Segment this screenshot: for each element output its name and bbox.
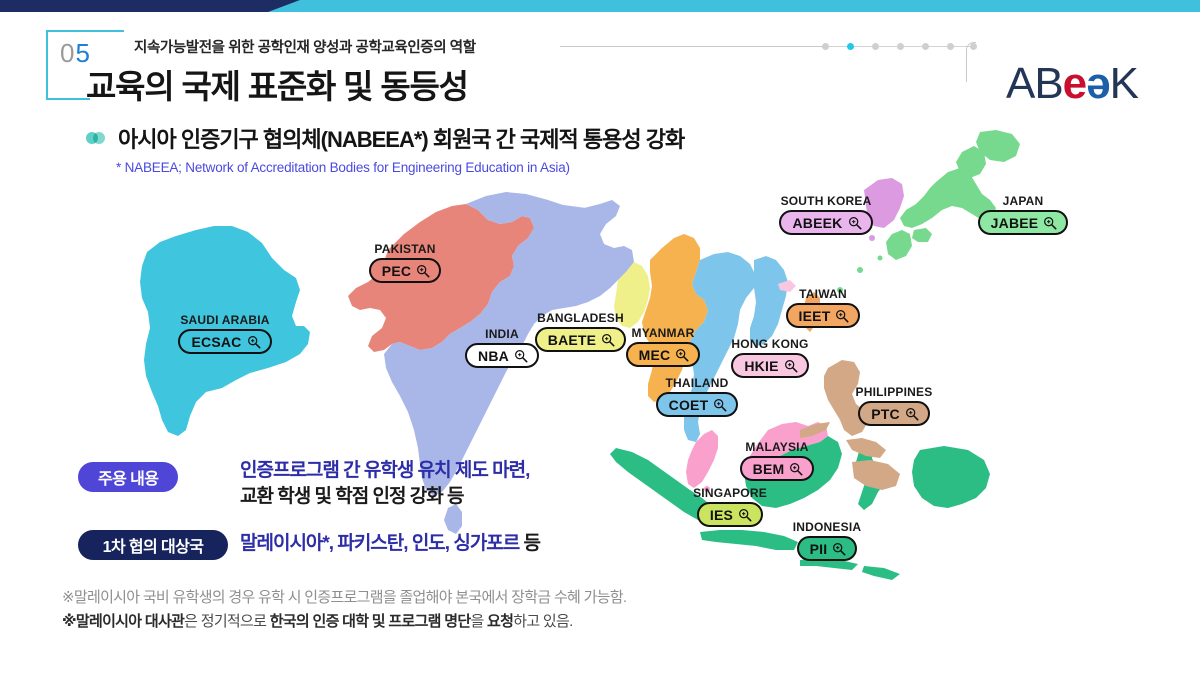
info-row-target-countries: 1차 협의 대상국 — [78, 530, 228, 560]
country-japan-shikoku — [912, 228, 932, 242]
info-text-main-content: 인증프로그램 간 유학생 유치 제도 마련, 교환 학생 및 학점 인정 강화 … — [240, 458, 529, 509]
magnifier-icon — [675, 348, 689, 362]
agency-label-ies: IES — [710, 508, 733, 522]
connector-dot-3 — [872, 43, 879, 50]
logo-part-schwa: ə — [1086, 59, 1109, 108]
country-label-taiwan[interactable]: TAIWAN IEET — [778, 287, 868, 328]
country-label-malaysia[interactable]: MALAYSIA BEM — [730, 440, 824, 481]
logo-part-ab: AB — [1006, 59, 1063, 108]
country-label-thailand[interactable]: THAILAND COET — [648, 376, 746, 417]
logo-part-k: K — [1110, 59, 1138, 108]
footnote-2-part-a: ※말레이시아 대사관 — [62, 613, 184, 630]
country-label-saudi-arabia[interactable]: SAUDI ARABIA ECSAC — [170, 313, 280, 354]
kicker-rule — [560, 46, 822, 47]
agency-pill-bem[interactable]: BEM — [740, 456, 815, 481]
page-title: 교육의 국제 표준화 및 동등성 — [86, 60, 468, 108]
country-philippines-visayas — [846, 438, 886, 458]
country-label-philippines[interactable]: PHILIPPINES PTC — [846, 385, 942, 426]
agency-label-baete: BAETE — [548, 333, 596, 347]
footnote-line-1: ※말레이시아 국비 유학생의 경우 유학 시 인증프로그램을 졸업해야 본국에서… — [62, 586, 626, 607]
kicker-text: 지속가능발전을 위한 공학인재 양성과 공학교육인증의 역할 — [134, 36, 476, 57]
country-name-myanmar: MYANMAR — [615, 326, 711, 340]
abeek-logo: ABeəK — [1006, 62, 1138, 106]
magnifier-icon — [738, 508, 752, 522]
connector-dot-1 — [822, 43, 829, 50]
footnote-line-2: ※말레이시아 대사관은 정기적으로 한국의 인증 대학 및 프로그램 명단을 요… — [62, 610, 573, 631]
slide-header: 05 지속가능발전을 위한 공학인재 양성과 공학교육인증의 역할 교육의 국제… — [0, 0, 1200, 120]
agency-label-bem: BEM — [753, 462, 785, 476]
country-south-korea-jeju — [869, 235, 875, 241]
country-name-south-korea: SOUTH KOREA — [772, 194, 880, 208]
country-name-malaysia: MALAYSIA — [730, 440, 824, 454]
country-indonesia-timor — [862, 566, 900, 580]
agency-pill-coet[interactable]: COET — [656, 392, 739, 417]
dotted-connector — [822, 42, 972, 52]
agency-label-mec: MEC — [639, 348, 671, 362]
country-name-saudi-arabia: SAUDI ARABIA — [170, 313, 280, 327]
agency-label-ptc: PTC — [871, 407, 900, 421]
country-label-south-korea[interactable]: SOUTH KOREA ABEEK — [772, 194, 880, 235]
country-label-japan[interactable]: JAPAN JABEE — [974, 194, 1072, 235]
agency-pill-baete[interactable]: BAETE — [535, 327, 626, 352]
agency-pill-mec[interactable]: MEC — [626, 342, 701, 367]
country-name-singapore: SINGAPORE — [680, 486, 780, 500]
tag-target-countries: 1차 협의 대상국 — [78, 530, 228, 560]
magnifier-icon — [514, 349, 528, 363]
connector-corner — [966, 42, 976, 82]
magnifier-icon — [832, 542, 846, 556]
country-label-hong-kong[interactable]: HONG KONG HKIE — [723, 337, 817, 378]
country-name-thailand: THAILAND — [648, 376, 746, 390]
connector-dot-5 — [922, 43, 929, 50]
info-target-highlight: 말레이시아*, 파키스탄, 인도, 싱가포르 — [240, 533, 519, 554]
country-name-taiwan: TAIWAN — [778, 287, 868, 301]
frame-bottom-line — [46, 98, 90, 100]
magnifier-icon — [835, 309, 849, 323]
footnote-2-part-b: 은 정기적으로 — [184, 613, 270, 630]
country-name-hong-kong: HONG KONG — [723, 337, 817, 351]
agency-pill-ecsac[interactable]: ECSAC — [178, 329, 271, 354]
country-name-philippines: PHILIPPINES — [846, 385, 942, 399]
agency-label-coet: COET — [669, 398, 709, 412]
magnifier-icon — [713, 398, 727, 412]
country-japan-ryukyu-3 — [878, 256, 883, 261]
magnifier-icon — [848, 216, 862, 230]
agency-pill-abeek[interactable]: ABEEK — [779, 210, 872, 235]
agency-label-ecsac: ECSAC — [191, 335, 241, 349]
country-name-bangladesh: BANGLADESH — [528, 311, 633, 325]
connector-dot-4 — [897, 43, 904, 50]
agency-label-pec: PEC — [382, 264, 411, 278]
country-label-pakistan[interactable]: PAKISTAN PEC — [360, 242, 450, 283]
agency-pill-pec[interactable]: PEC — [369, 258, 441, 283]
country-name-indonesia: INDONESIA — [778, 520, 876, 534]
agency-pill-ies[interactable]: IES — [697, 502, 763, 527]
magnifier-icon — [789, 462, 803, 476]
logo-part-e: e — [1063, 59, 1086, 108]
agency-label-jabee: JABEE — [991, 216, 1039, 230]
info-target-tail: 등 — [519, 533, 540, 554]
agency-label-pii: PII — [810, 542, 828, 556]
country-philippines-mindanao — [852, 460, 900, 490]
frame-top-line — [46, 30, 124, 32]
country-japan-ryukyu-1 — [857, 267, 863, 273]
country-label-singapore[interactable]: SINGAPORE IES — [680, 486, 780, 527]
agency-pill-ptc[interactable]: PTC — [858, 401, 930, 426]
footnote-2-part-d: 을 — [470, 613, 487, 630]
magnifier-icon — [1043, 216, 1057, 230]
footnote-2-part-f: 하고 있음. — [513, 613, 572, 630]
magnifier-icon — [601, 333, 615, 347]
country-japan-kyushu — [886, 230, 912, 260]
country-label-myanmar[interactable]: MYANMAR MEC — [615, 326, 711, 367]
magnifier-icon — [247, 335, 261, 349]
footnote-2-part-e: 요청 — [487, 613, 513, 630]
agency-pill-pii[interactable]: PII — [797, 536, 858, 561]
magnifier-icon — [905, 407, 919, 421]
info-target-line: 말레이시아*, 파키스탄, 인도, 싱가포르 등 — [240, 531, 540, 557]
tag-main-content: 주용 내용 — [78, 462, 178, 492]
agency-pill-jabee[interactable]: JABEE — [978, 210, 1069, 235]
country-name-japan: JAPAN — [974, 194, 1072, 208]
footnote-2-part-c: 한국의 인증 대학 및 프로그램 명단 — [270, 613, 471, 630]
magnifier-icon — [784, 359, 798, 373]
info-text-target-countries: 말레이시아*, 파키스탄, 인도, 싱가포르 등 — [240, 531, 540, 557]
agency-label-nba: NBA — [478, 349, 509, 363]
country-label-indonesia[interactable]: INDONESIA PII — [778, 520, 876, 561]
agency-label-ieet: IEET — [799, 309, 831, 323]
connector-dot-6 — [947, 43, 954, 50]
frame-left-line — [46, 30, 48, 100]
agency-label-hkie: HKIE — [744, 359, 778, 373]
country-indonesia-papua — [912, 446, 990, 508]
country-name-pakistan: PAKISTAN — [360, 242, 450, 256]
magnifier-icon — [416, 264, 430, 278]
connector-dot-active — [847, 43, 854, 50]
info-row-main-content: 주용 내용 — [78, 462, 178, 492]
info-main-line2: 교환 학생 및 학점 인정 강화 등 — [240, 484, 529, 510]
info-main-line1: 인증프로그램 간 유학생 유치 제도 마련, — [240, 458, 529, 484]
agency-pill-ieet[interactable]: IEET — [786, 303, 861, 328]
agency-label-abeek: ABEEK — [792, 216, 842, 230]
agency-pill-hkie[interactable]: HKIE — [731, 353, 808, 378]
slide-number-prefix: 0 — [60, 38, 75, 68]
